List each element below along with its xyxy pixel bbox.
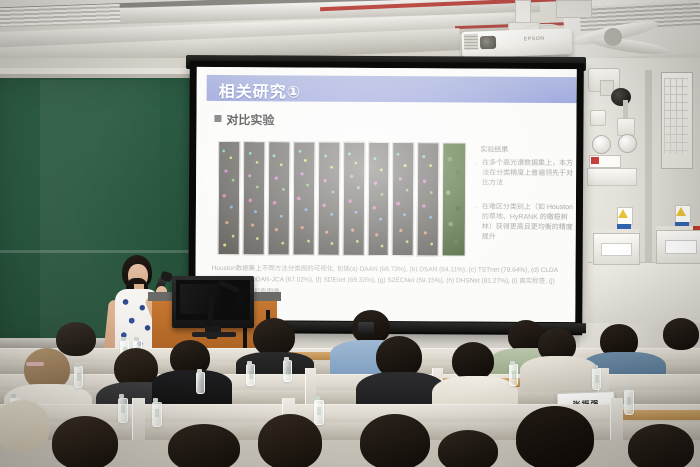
desk-divider — [610, 398, 623, 440]
audience-head — [258, 414, 322, 467]
classification-map-strip: (d) — [292, 141, 315, 255]
strip-texture — [393, 143, 414, 255]
podium-monitor-base — [192, 332, 236, 337]
phone-device[interactable] — [358, 322, 374, 334]
slide-section-heading: 对比实验 — [226, 111, 274, 128]
water-bottle-cap — [121, 337, 126, 341]
water-bottle[interactable] — [314, 400, 324, 425]
water-bottle-cap — [284, 357, 289, 361]
strip-texture — [244, 142, 265, 254]
slide-title: 相关研究① — [219, 78, 302, 103]
wall-label-red-mark — [591, 157, 599, 164]
audience-head — [452, 342, 494, 380]
audience-shoulders — [152, 370, 232, 406]
audience-head — [360, 414, 430, 467]
classification-map-strip: (h) — [392, 142, 415, 256]
natural-color-image-strip: (j) — [442, 142, 466, 256]
projector-vent — [464, 34, 479, 50]
results-bullet-text-1: 在多个高光谱数据集上，本方法在分类精度上普遍领先于对比方法 — [482, 159, 574, 190]
water-bottle[interactable] — [196, 372, 205, 394]
classification-map-strip: (a) — [218, 141, 241, 255]
ground-truth-strip: (i) — [417, 142, 440, 256]
water-bottle-cap — [625, 386, 630, 390]
gooseneck-microphone-head — [236, 292, 245, 306]
water-bottle[interactable] — [246, 364, 255, 386]
audience-shoulders — [520, 356, 598, 392]
water-bottle[interactable] — [74, 366, 83, 388]
results-bullet-dot-2: · — [474, 205, 476, 212]
projector-lens — [480, 36, 496, 50]
strip-texture — [443, 143, 465, 255]
ceiling-projector — [462, 28, 573, 58]
water-bottle-cap — [510, 361, 515, 365]
classification-map-strip: (e) — [317, 142, 340, 256]
audience-head — [438, 430, 498, 467]
security-camera-icon — [611, 88, 631, 106]
audience-head — [516, 406, 594, 467]
classification-map-strip: (b) — [243, 141, 266, 255]
water-bottle[interactable] — [152, 402, 162, 427]
audience-head — [168, 424, 240, 467]
results-panel-heading: 实验结果 — [480, 145, 508, 155]
wall-gauge-2 — [618, 134, 637, 153]
warning-triangle-icon-1 — [618, 209, 628, 218]
desk-divider — [132, 398, 145, 440]
warning-triangle-icon-2 — [676, 207, 686, 216]
classification-map-strip: (g) — [367, 142, 390, 256]
audience-head — [628, 424, 694, 467]
strip-texture — [219, 142, 240, 254]
strip-texture — [293, 142, 314, 254]
water-bottle-cap — [153, 398, 158, 402]
classification-map-strip: (f) — [342, 142, 365, 256]
strip-texture — [318, 143, 339, 255]
wall-socket — [590, 110, 606, 126]
water-bottle-cap — [197, 369, 202, 373]
water-bottle[interactable] — [624, 390, 634, 415]
water-bottle-cap — [134, 337, 139, 341]
water-bottle-cap — [315, 396, 320, 400]
strip-texture — [418, 143, 439, 255]
strip-texture — [368, 143, 389, 255]
strip-texture — [268, 142, 289, 254]
water-bottle[interactable] — [509, 364, 518, 386]
projector-ceiling-plate — [556, 0, 592, 18]
electrical-cabinet-label-1 — [601, 243, 632, 256]
classification-map-strip-row: (a) (b) (c) (d) (e) — [218, 141, 467, 255]
projector-brand-label: EPSON — [524, 36, 545, 43]
electrical-cabinet-label-2 — [665, 240, 697, 254]
water-bottle-cap — [75, 363, 80, 367]
audience-head — [52, 416, 118, 467]
water-bottle-cap — [119, 394, 124, 398]
strip-texture — [343, 143, 364, 255]
results-bullet-text-2: 在难区分类别上（如 Houston 的草地、HyRANK 的橄榄树林）获得更高且… — [482, 203, 574, 244]
audience-head — [56, 322, 96, 356]
hair-clip — [26, 362, 44, 366]
section-bullet-square-icon — [214, 115, 221, 122]
water-bottle-cap — [11, 394, 16, 398]
water-bottle[interactable] — [592, 368, 601, 390]
classification-map-strip: (c) — [267, 141, 290, 255]
notice-board-grid — [664, 78, 688, 154]
water-bottle[interactable] — [283, 360, 292, 382]
audience-head — [663, 318, 699, 350]
water-bottle-cap — [593, 365, 598, 369]
wall-gauge-1 — [592, 135, 611, 154]
ceiling-fan-hub — [604, 28, 622, 46]
electrical-panel-label — [587, 168, 637, 186]
audience-head — [253, 318, 295, 356]
water-bottle[interactable] — [118, 398, 128, 423]
results-bullet-dot-1: · — [474, 161, 476, 168]
water-bottle-cap — [247, 361, 252, 365]
lecture-hall-photo: EPSON 相关研究① 对比实验 — [0, 0, 700, 467]
wall-cabinet-lower — [588, 262, 700, 323]
chalkboard-seam — [0, 250, 220, 253]
audience-head — [0, 400, 50, 452]
